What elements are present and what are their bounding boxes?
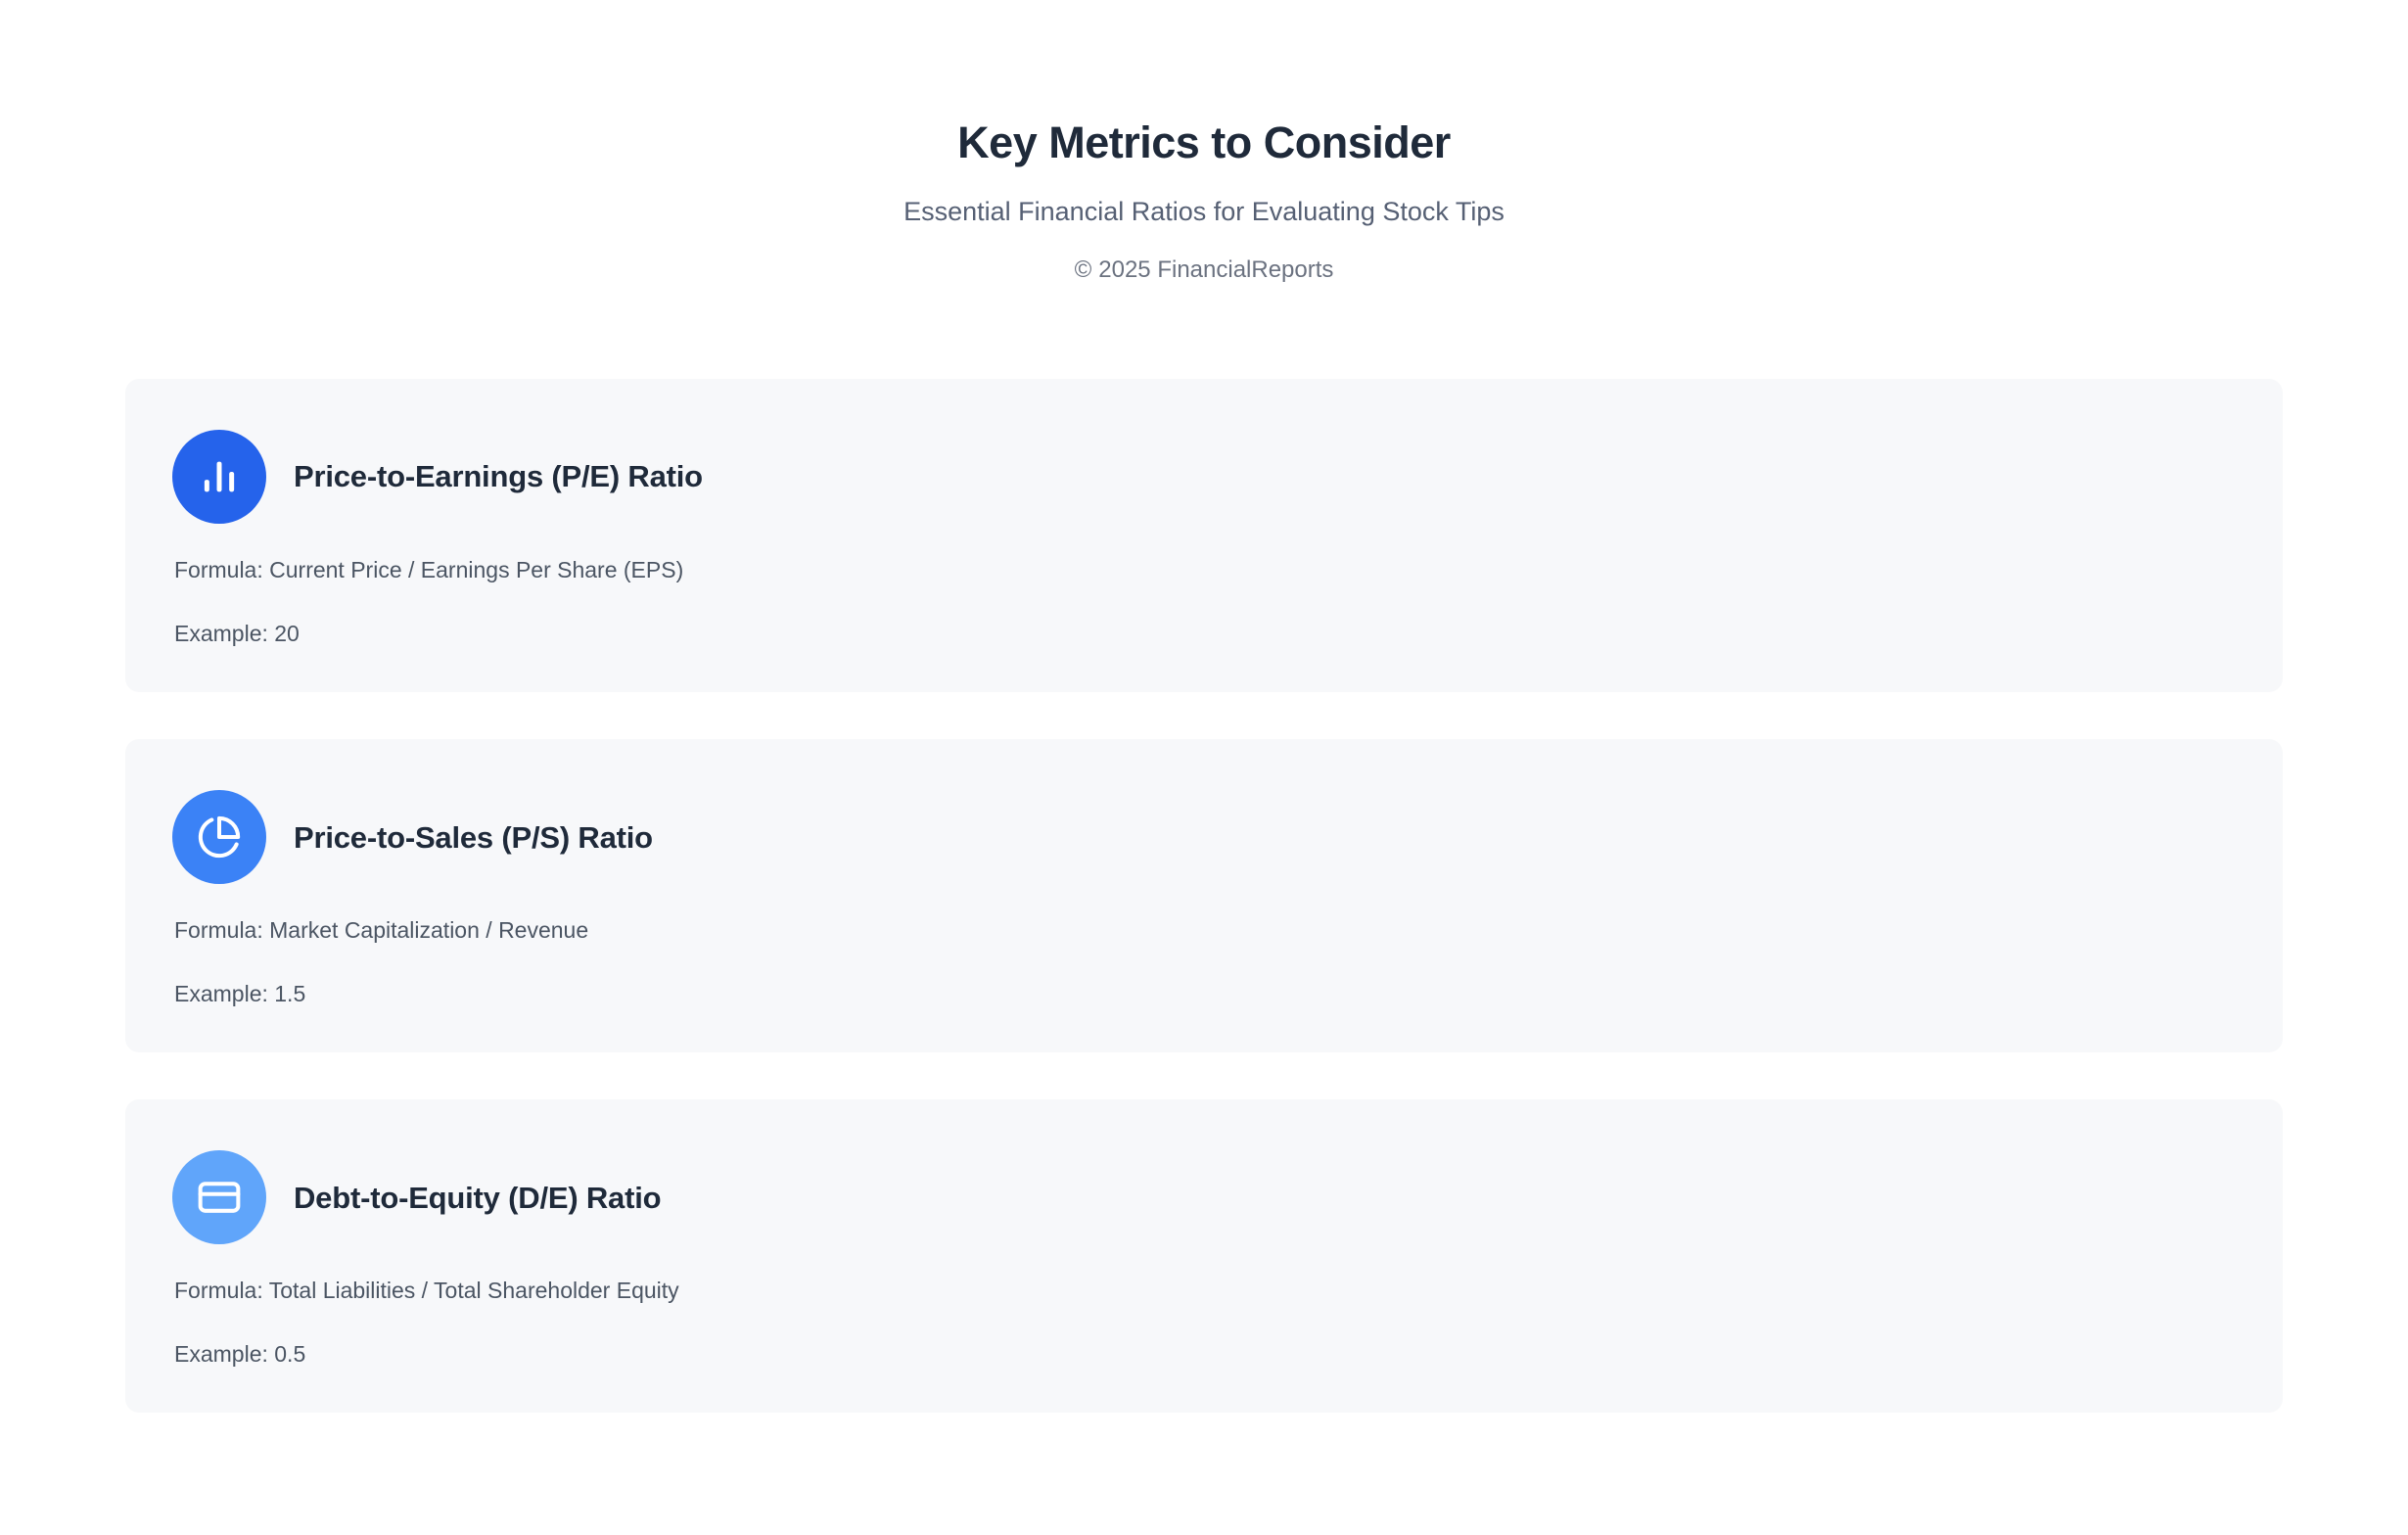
metric-formula: Formula: Total Liabilities / Total Share… [174,1276,2236,1306]
copyright-icon: © [1075,256,1092,283]
metric-card[interactable]: Debt-to-Equity (D/E) Ratio Formula: Tota… [125,1099,2283,1413]
metric-card-header: Price-to-Earnings (P/E) Ratio [172,430,2236,524]
metric-card-title: Price-to-Sales (P/S) Ratio [294,819,653,856]
pie-chart-icon [172,790,266,884]
metric-example: Example: 20 [174,619,2236,649]
metric-card-list: Price-to-Earnings (P/E) Ratio Formula: C… [0,379,2408,1413]
metric-card-title: Price-to-Earnings (P/E) Ratio [294,458,703,494]
metric-card[interactable]: Price-to-Sales (P/S) Ratio Formula: Mark… [125,739,2283,1052]
metric-card-title: Debt-to-Equity (D/E) Ratio [294,1180,661,1216]
page-title: Key Metrics to Consider [0,117,2408,168]
metric-example: Example: 0.5 [174,1339,2236,1370]
bar-chart-icon [172,430,266,524]
metric-card-body: Formula: Total Liabilities / Total Share… [172,1276,2236,1370]
metric-card-header: Price-to-Sales (P/S) Ratio [172,790,2236,884]
metric-card-body: Formula: Market Capitalization / Revenue… [172,915,2236,1009]
page-header: Key Metrics to Consider Essential Financ… [0,0,2408,285]
metric-formula: Formula: Market Capitalization / Revenue [174,915,2236,946]
page-subtitle: Essential Financial Ratios for Evaluatin… [0,195,2408,229]
metric-example: Example: 1.5 [174,979,2236,1009]
metric-card[interactable]: Price-to-Earnings (P/E) Ratio Formula: C… [125,379,2283,692]
copyright-text: 2025 FinancialReports [1098,256,1333,283]
page-root: Key Metrics to Consider Essential Financ… [0,0,2408,1535]
credit-card-icon [172,1150,266,1244]
metric-card-body: Formula: Current Price / Earnings Per Sh… [172,555,2236,649]
copyright-line: ©2025 FinancialReports [0,255,2408,285]
metric-formula: Formula: Current Price / Earnings Per Sh… [174,555,2236,585]
metric-card-header: Debt-to-Equity (D/E) Ratio [172,1150,2236,1244]
